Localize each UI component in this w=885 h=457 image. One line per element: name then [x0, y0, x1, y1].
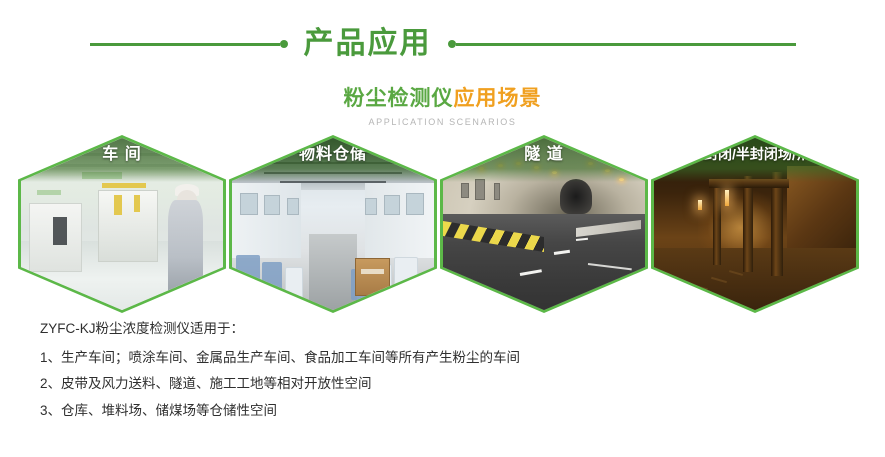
hexagon-clip: 隧 道 [443, 138, 645, 310]
header-rule-left [90, 43, 280, 46]
subtitle-block: 粉尘检测仪应用场景 APPLICATION SCENARIOS [0, 86, 885, 127]
scenario-label: 车 间 [102, 147, 141, 163]
scenario-label-band: 隧 道 [443, 138, 645, 182]
scenario-label-band: 车 间 [21, 138, 223, 182]
header-rule-right [456, 43, 796, 46]
header-dot-right [448, 40, 456, 48]
scenario-card-workshop[interactable]: 车 间 [18, 135, 226, 313]
scenario-card-warehouse[interactable]: 物料仓储 [229, 135, 437, 313]
header-dot-left [280, 40, 288, 48]
section-header: 产品应用 [0, 22, 885, 66]
subtitle-english: APPLICATION SCENARIOS [0, 117, 885, 127]
hexagon-clip: 车 间 [21, 138, 223, 310]
description-block: ZYFC-KJ粉尘浓度检测仪适用于： 1、生产车间；喷涂车间、金属品生产车间、食… [40, 322, 850, 430]
description-item-2: 2、皮带及风力送料、隧道、施工工地等相对开放性空间 [40, 377, 850, 391]
scenario-card-tunnel[interactable]: 隧 道 [440, 135, 648, 313]
page-title: 产品应用 [288, 29, 448, 59]
scenario-card-enclosed[interactable]: 封闭/半封闭场所 [651, 135, 859, 313]
scenario-label: 隧 道 [524, 147, 563, 163]
scenario-label: 物料仓储 [299, 147, 367, 163]
scenario-label-band: 物料仓储 [232, 138, 434, 182]
description-item-1: 1、生产车间；喷涂车间、金属品生产车间、食品加工车间等所有产生粉尘的车间 [40, 351, 850, 365]
scenario-hexagon-row: 车 间 [18, 135, 868, 315]
scenario-label: 封闭/半封闭场所 [704, 147, 806, 161]
product-application-page: 产品应用 粉尘检测仪应用场景 APPLICATION SCENARIOS [0, 0, 885, 457]
subtitle-green-part: 粉尘检测仪 [344, 87, 454, 110]
subtitle-orange-part: 应用场景 [454, 87, 542, 110]
scenario-label-band: 封闭/半封闭场所 [654, 138, 856, 182]
description-item-3: 3、仓库、堆料场、储煤场等仓储性空间 [40, 404, 850, 418]
hexagon-clip: 物料仓储 [232, 138, 434, 310]
subtitle-chinese: 粉尘检测仪应用场景 [0, 86, 885, 111]
description-intro: ZYFC-KJ粉尘浓度检测仪适用于： [40, 322, 850, 336]
hexagon-clip: 封闭/半封闭场所 [654, 138, 856, 310]
